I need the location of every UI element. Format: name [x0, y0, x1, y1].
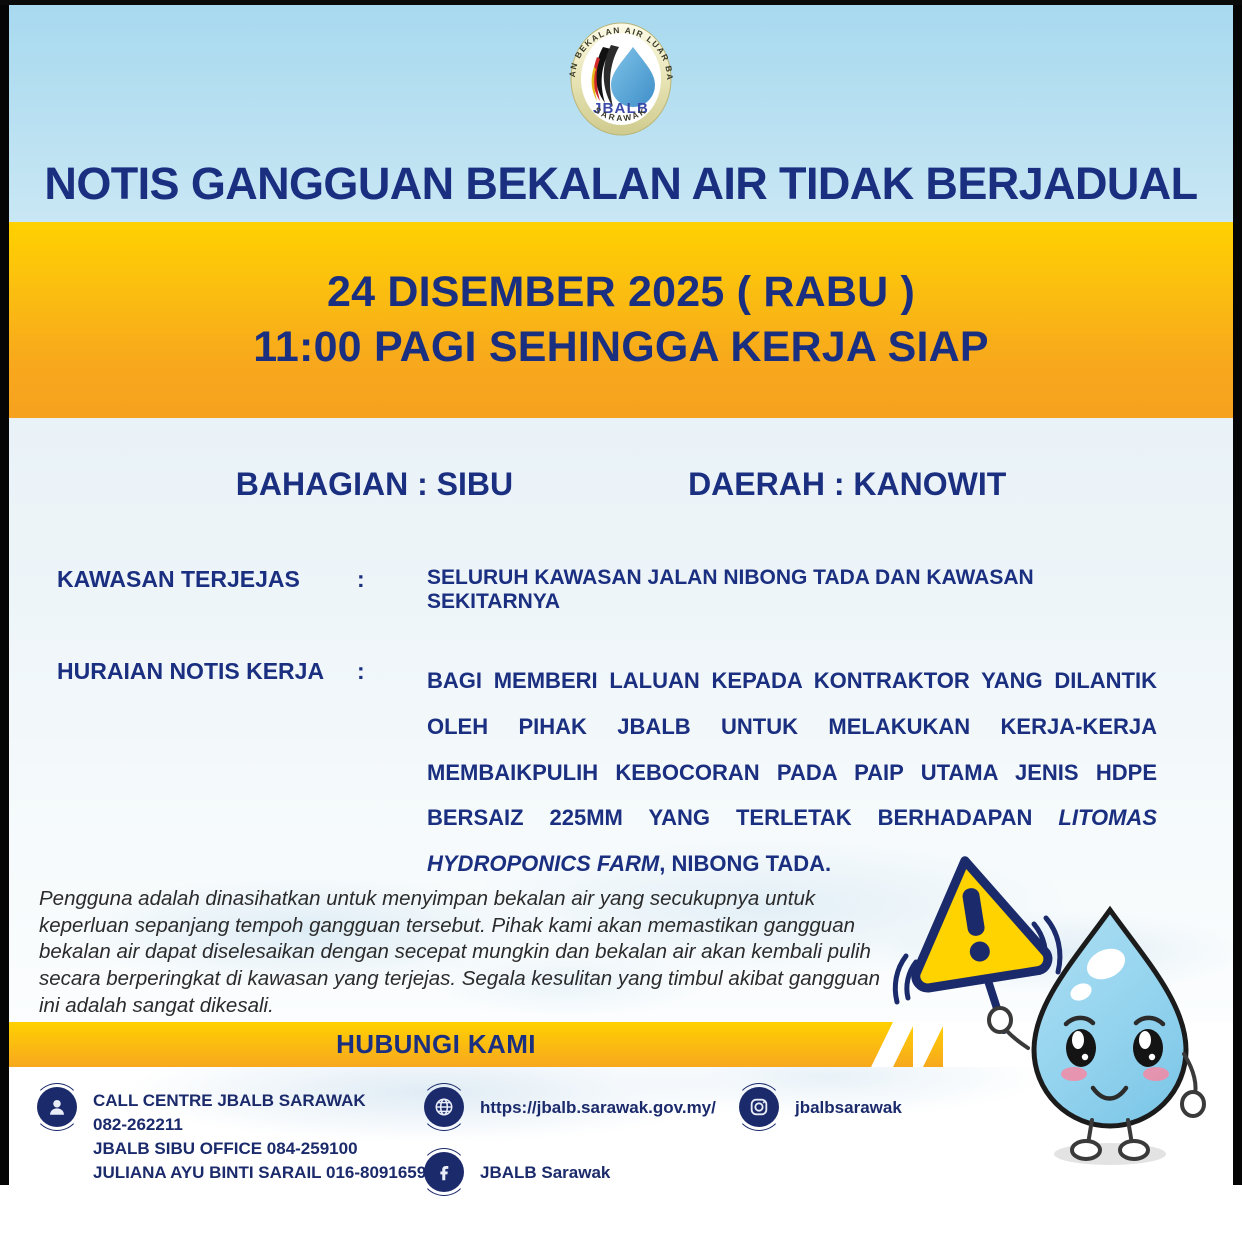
- district-label: DAERAH : KANOWIT: [688, 466, 1006, 503]
- page-title: NOTIS GANGGUAN BEKALAN AIR TIDAK BERJADU…: [9, 158, 1233, 210]
- decorative-stripe-2: [923, 1022, 943, 1067]
- contact-phone-text: CALL CENTRE JBALB SARAWAK 082-262211 JBA…: [93, 1087, 426, 1186]
- facebook-icon: [424, 1152, 464, 1192]
- contact-phone-block: CALL CENTRE JBALB SARAWAK 082-262211 JBA…: [37, 1087, 426, 1186]
- date-banner: 24 DISEMBER 2025 ( RABU ) 11:00 PAGI SEH…: [9, 222, 1233, 418]
- work-description-part2: , NIBONG TADA.: [659, 851, 831, 876]
- region-row: BAHAGIAN : SIBU DAERAH : KANOWIT: [9, 466, 1233, 503]
- field-affected-area: KAWASAN TERJEJAS : SELURUH KAWASAN JALAN…: [57, 566, 1157, 614]
- decorative-stripe-1: [893, 1022, 913, 1067]
- field-work-description-colon: :: [357, 658, 427, 685]
- notice-date: 24 DISEMBER 2025 ( RABU ): [327, 265, 915, 320]
- poster-right-border: [1233, 0, 1242, 1185]
- poster-top-border: [0, 0, 1242, 5]
- advisory-note: Pengguna adalah dinasihatkan untuk menyi…: [39, 886, 894, 1019]
- contact-facebook-block[interactable]: JBALB Sarawak: [424, 1152, 610, 1192]
- call-centre-name: CALL CENTRE JBALB SARAWAK: [93, 1089, 426, 1113]
- contact-instagram-block[interactable]: jbalbsarawak: [739, 1087, 902, 1127]
- division-label: BAHAGIAN : SIBU: [236, 466, 513, 503]
- contact-bar-label: HUBUNGI KAMI: [336, 1029, 536, 1060]
- poster-header: JBALB JABATAN BEKALAN AIR LUAR BANDAR SA…: [9, 5, 1233, 222]
- contact-bar: HUBUNGI KAMI: [9, 1022, 893, 1067]
- field-affected-area-value: SELURUH KAWASAN JALAN NIBONG TADA DAN KA…: [427, 566, 1157, 614]
- facebook-page-name[interactable]: JBALB Sarawak: [480, 1152, 610, 1185]
- poster-body: BAHAGIAN : SIBU DAERAH : KANOWIT KAWASAN…: [9, 418, 1233, 1022]
- jbalb-logo: JBALB JABATAN BEKALAN AIR LUAR BANDAR SA…: [559, 17, 683, 141]
- field-work-description: HURAIAN NOTIS KERJA : BAGI MEMBERI LALUA…: [57, 658, 1157, 887]
- instagram-handle[interactable]: jbalbsarawak: [795, 1087, 902, 1120]
- sibu-office-number: JBALB SIBU OFFICE 084-259100: [93, 1137, 426, 1161]
- poster-footer: CALL CENTRE JBALB SARAWAK 082-262211 JBA…: [9, 1067, 1233, 1234]
- instagram-icon: [739, 1087, 779, 1127]
- field-work-description-label: HURAIAN NOTIS KERJA: [57, 658, 357, 685]
- field-affected-area-label: KAWASAN TERJEJAS: [57, 566, 357, 593]
- contact-bar-container: HUBUNGI KAMI: [9, 1022, 1233, 1067]
- work-description-part1: BAGI MEMBERI LALUAN KEPADA KONTRAKTOR YA…: [427, 668, 1157, 830]
- officer-contact: JULIANA AYU BINTI SARAIL 016-8091659: [93, 1161, 426, 1185]
- field-work-description-value: BAGI MEMBERI LALUAN KEPADA KONTRAKTOR YA…: [427, 658, 1157, 887]
- person-icon: [37, 1087, 77, 1127]
- contact-website-block[interactable]: https://jbalb.sarawak.gov.my/: [424, 1087, 716, 1127]
- notice-time: 11:00 PAGI SEHINGGA KERJA SIAP: [253, 320, 989, 375]
- poster-left-border: [0, 0, 9, 1185]
- water-disruption-notice-poster: JBALB JABATAN BEKALAN AIR LUAR BANDAR SA…: [0, 0, 1242, 1234]
- website-url[interactable]: https://jbalb.sarawak.gov.my/: [480, 1087, 716, 1120]
- field-affected-area-colon: :: [357, 566, 427, 593]
- globe-icon: [424, 1087, 464, 1127]
- call-centre-number: 082-262211: [93, 1113, 426, 1137]
